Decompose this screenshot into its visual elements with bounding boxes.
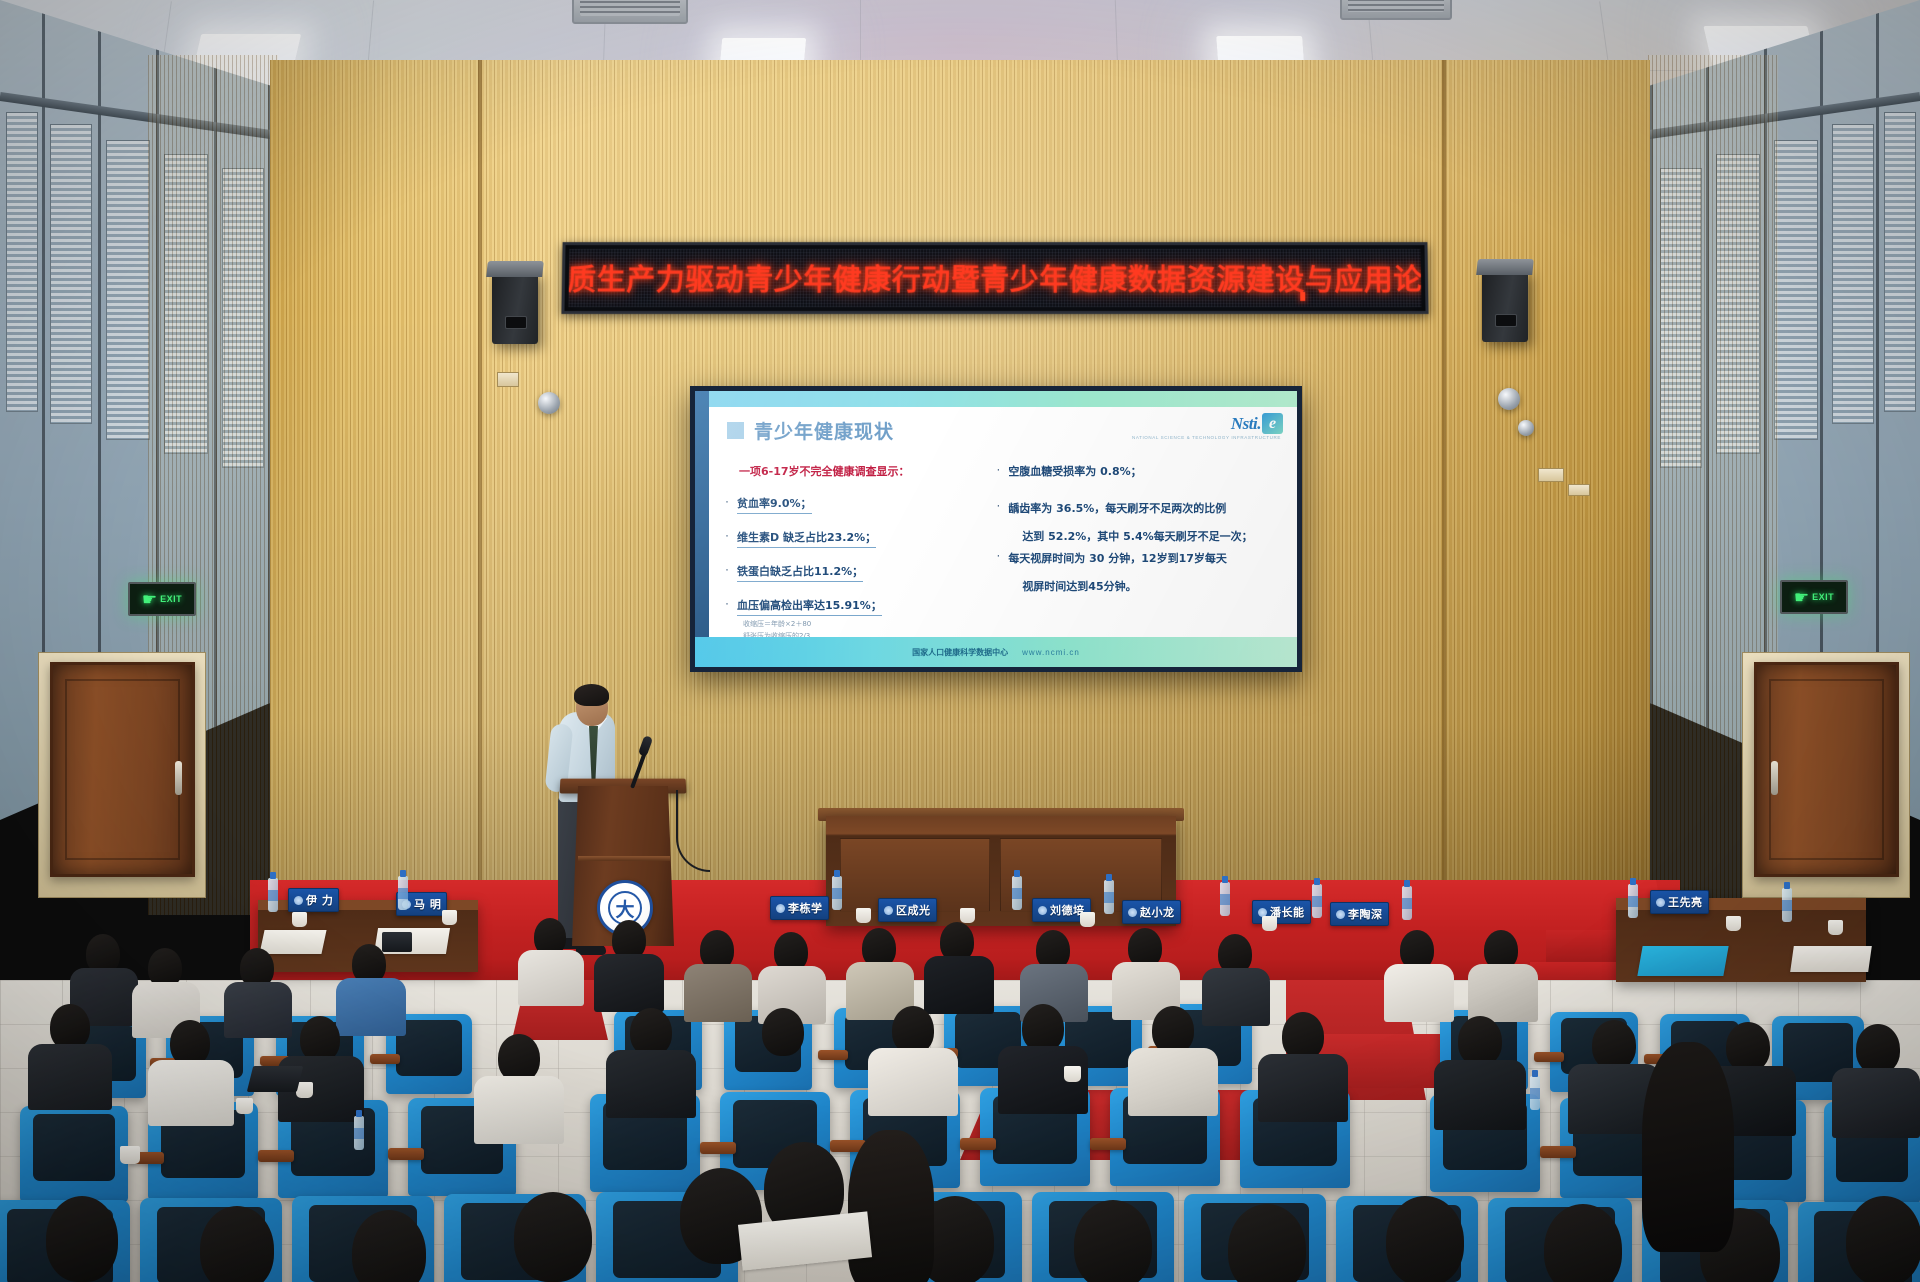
nameplate: 潘长能 xyxy=(1252,900,1311,924)
exit-sign-label: EXIT xyxy=(160,594,182,604)
nameplate: 赵小龙 xyxy=(1122,900,1181,924)
audience-person-body xyxy=(594,954,664,1012)
seat-armrest xyxy=(258,1150,294,1162)
audience-person-body xyxy=(1832,1068,1920,1138)
audience-seat[interactable] xyxy=(20,1106,128,1202)
nameplate-text: 马 明 xyxy=(414,896,441,912)
slide-footer-url: www.ncmi.cn xyxy=(1022,648,1080,657)
audience-person-head xyxy=(1074,1200,1152,1282)
seat-armrest xyxy=(388,1148,424,1160)
audience-person-body xyxy=(684,964,752,1022)
running-man-icon: ☛ xyxy=(142,591,157,608)
audience-person-head xyxy=(1022,1004,1064,1052)
podium-trim xyxy=(578,856,670,861)
slide-bullet: · 贫血率9.0%； xyxy=(725,495,986,514)
slide-bullet: · 龋齿率为 36.5%，每天刷牙不足两次的比例 达到 52.2%，其中 5.4… xyxy=(996,499,1281,545)
audience-person-head xyxy=(514,1192,592,1282)
water-bottle xyxy=(1782,888,1792,922)
seat-armrest xyxy=(960,1138,996,1150)
audience-person-head xyxy=(848,1130,934,1282)
led-banner-text: 新质生产力驱动青少年健康行动暨青少年健康数据资源建设与应用论坛 xyxy=(569,257,1422,299)
exit-sign-label: EXIT xyxy=(1812,592,1834,602)
audience-person-head xyxy=(200,1206,274,1282)
audience-person-head xyxy=(1386,1196,1464,1282)
audience-person-body xyxy=(518,950,584,1006)
bullet-text-wrap: 视屏时间达到45分钟。 xyxy=(1022,578,1227,595)
audience-person-head xyxy=(1458,1016,1502,1066)
bullet-dot-icon: · xyxy=(725,563,729,576)
slide-title-row: 青少年健康现状 xyxy=(727,417,894,444)
bullet-dot-icon: · xyxy=(996,549,1000,562)
air-conditioner-vent xyxy=(572,0,688,24)
paper-cup xyxy=(1828,920,1843,935)
led-banner-screen: 新质生产力驱动青少年健康行动暨青少年健康数据资源建设与应用论坛 xyxy=(569,249,1422,307)
bullet-text: 龋齿率为 36.5%，每天刷牙不足两次的比例 xyxy=(1008,502,1226,515)
water-bottle xyxy=(1312,884,1322,918)
paper-cup xyxy=(1064,1066,1081,1082)
nameplate-seal-icon xyxy=(776,904,785,913)
water-bottle xyxy=(398,876,408,910)
bullet-dot-icon: · xyxy=(996,499,1000,512)
nameplate-text: 王先亮 xyxy=(1668,894,1703,910)
wall-mounted-sensor xyxy=(538,392,560,414)
wall-speaker-left xyxy=(492,272,538,344)
audience-person-body xyxy=(28,1044,112,1110)
paper-cup xyxy=(442,910,457,925)
window-blind xyxy=(50,124,92,424)
paper-cup xyxy=(1726,916,1741,931)
seat-armrest xyxy=(1090,1138,1126,1150)
nameplate-text: 伊 力 xyxy=(306,892,333,908)
slide-body: 一项6-17岁不完全健康调查显示： · 贫血率9.0%； · 维生素D 缺乏占比… xyxy=(725,457,1281,635)
document-sheet xyxy=(259,930,326,954)
exit-sign-right: ☛ EXIT xyxy=(1780,580,1848,614)
slide-title-marker-icon xyxy=(727,422,744,439)
nsti-logo-word: Nsti. xyxy=(1231,414,1261,434)
nameplate-seal-icon xyxy=(294,896,303,905)
audience-person-body xyxy=(1128,1048,1218,1116)
conference-hall-photo: 新质生产力驱动青少年健康行动暨青少年健康数据资源建设与应用论坛 青少年健康现状 … xyxy=(0,0,1920,1282)
nameplate-text: 李陶深 xyxy=(1348,906,1383,922)
led-banner: 新质生产力驱动青少年健康行动暨青少年健康数据资源建设与应用论坛 xyxy=(561,242,1428,314)
bullet-text: 血压偏高检出率达15.91%； xyxy=(737,597,882,616)
slide-left-column: 一项6-17岁不完全健康调查显示： · 贫血率9.0%； · 维生素D 缺乏占比… xyxy=(725,457,986,635)
bullet-text: 贫血率9.0%； xyxy=(737,495,812,514)
audience-person-body xyxy=(868,1048,958,1116)
paper-cup xyxy=(292,912,307,927)
slide-right-column: · 空腹血糖受损率为 0.8%； · 龋齿率为 36.5%，每天刷牙不足两次的比… xyxy=(996,457,1281,635)
nameplate-seal-icon xyxy=(884,906,893,915)
water-bottle xyxy=(1104,880,1114,914)
nameplate-seal-icon xyxy=(1128,908,1137,917)
audience-person-head xyxy=(1152,1006,1194,1054)
water-bottle xyxy=(832,876,842,910)
audience-person-body xyxy=(224,982,292,1038)
bullet-dot-icon: · xyxy=(996,463,1000,476)
audience-person-head xyxy=(762,1008,804,1056)
window-blind xyxy=(1832,124,1874,424)
document-sheet xyxy=(1790,946,1872,972)
slide-footer-org: 国家人口健康科学数据中心 xyxy=(912,647,1008,658)
wall-seam xyxy=(478,60,482,910)
slide-lead-text: 一项6-17岁不完全健康调查显示： xyxy=(739,463,986,479)
water-bottle xyxy=(1012,876,1022,910)
slide-left-accent-band xyxy=(695,391,709,667)
speaker-hair xyxy=(574,684,609,706)
seat-armrest xyxy=(1534,1052,1564,1062)
wall-speaker-right xyxy=(1482,270,1528,342)
seat-armrest xyxy=(1540,1146,1576,1158)
slide-subnote: 收缩压＝年龄×2＋80 xyxy=(743,619,986,630)
audience-person-body xyxy=(924,956,994,1014)
bullet-dot-icon: · xyxy=(725,597,729,610)
slide-bullet: · 空腹血糖受损率为 0.8%； xyxy=(996,463,1281,480)
audience-person-head xyxy=(1856,1024,1900,1074)
air-conditioner-vent xyxy=(1340,0,1452,20)
audience-person-body xyxy=(1384,964,1454,1022)
wall-mounted-sensor xyxy=(1498,388,1520,410)
audience-person-head xyxy=(1726,1022,1770,1072)
window-blind xyxy=(6,112,38,412)
water-bottle xyxy=(268,878,278,912)
audience-person-body xyxy=(606,1050,696,1118)
ceiling-speaker-dome xyxy=(1518,420,1534,436)
bullet-text: 维生素D 缺乏占比23.2%； xyxy=(737,529,876,548)
audience-person-head xyxy=(1282,1012,1324,1060)
nameplate-seal-icon xyxy=(1336,910,1345,919)
audience-person-body xyxy=(1468,964,1538,1022)
paper-cup xyxy=(236,1098,253,1114)
presentation-slide: 青少年健康现状 Nsti. e NATIONAL SCIENCE & TECHN… xyxy=(695,391,1297,667)
audience-person-head xyxy=(1846,1196,1920,1282)
window-blind xyxy=(1774,140,1818,440)
audience-person-head xyxy=(630,1008,672,1056)
tablet-device xyxy=(382,932,412,952)
slide-bullet: · 铁蛋白缺乏占比11.2%； xyxy=(725,563,986,582)
nameplate-seal-icon xyxy=(1656,898,1665,907)
nameplate: 区成光 xyxy=(878,898,937,922)
bullet-dot-icon: · xyxy=(725,529,729,542)
door-left xyxy=(50,662,195,877)
bullet-text-wrap: 达到 52.2%，其中 5.4%每天刷牙不足一次； xyxy=(1022,528,1252,545)
paper-cup xyxy=(1080,912,1095,927)
folder-blue xyxy=(1637,946,1728,976)
paper-cup xyxy=(856,908,871,923)
window-blind xyxy=(1884,112,1916,412)
nameplate-text: 赵小龙 xyxy=(1140,904,1175,920)
audience-person-body xyxy=(738,1050,828,1118)
nameplate-text: 区成光 xyxy=(896,902,931,918)
bullet-dot-icon: · xyxy=(725,495,729,508)
door-handle-icon xyxy=(175,761,182,795)
nameplate: 王先亮 xyxy=(1650,890,1709,914)
water-bottle xyxy=(354,1116,364,1150)
slide-bullet: · 每天视屏时间为 30 分钟，12岁到17岁每天 视屏时间达到45分钟。 xyxy=(996,549,1281,595)
water-bottle xyxy=(1628,884,1638,918)
audience-person-head xyxy=(1592,1020,1636,1070)
slide-bullet: · 血压偏高检出率达15.91%； xyxy=(725,597,986,616)
audience-person-body xyxy=(1434,1060,1526,1130)
audience-person-body xyxy=(148,1060,234,1126)
wall-panel-box xyxy=(1538,468,1564,482)
audience-person-body xyxy=(1202,968,1270,1026)
audience-person-head xyxy=(46,1196,118,1282)
audience-person-head xyxy=(1642,1042,1734,1252)
seat-armrest xyxy=(370,1054,400,1064)
audience-person-body xyxy=(474,1076,564,1144)
paper-cup xyxy=(120,1146,140,1164)
running-man-icon: ☛ xyxy=(1794,589,1809,606)
nsti-logo-badge-icon: e xyxy=(1262,413,1283,434)
wall-seam xyxy=(1442,60,1446,910)
bullet-text: 铁蛋白缺乏占比11.2%； xyxy=(737,563,863,582)
led-stuck-pixel xyxy=(1300,292,1305,301)
bullet-text: 空腹血糖受损率为 0.8%； xyxy=(1008,463,1141,480)
slide-title: 青少年健康现状 xyxy=(754,417,894,444)
slide-top-gradient-band xyxy=(695,391,1297,407)
window-blind xyxy=(106,140,150,440)
nameplate-seal-icon xyxy=(1038,906,1047,915)
audience-person-head xyxy=(892,1006,934,1054)
door-handle-icon xyxy=(1771,761,1778,795)
audience-person-body xyxy=(1258,1054,1348,1122)
nameplate-text: 李栋学 xyxy=(788,900,823,916)
audience-person-body xyxy=(336,978,406,1036)
water-bottle xyxy=(1402,886,1412,920)
slide-footer: 国家人口健康科学数据中心 www.ncmi.cn xyxy=(695,637,1297,667)
bullet-text: 每天视屏时间为 30 分钟，12岁到17岁每天 xyxy=(1008,552,1227,565)
paper-cup xyxy=(960,908,975,923)
nsti-logo-subtitle: NATIONAL SCIENCE & TECHNOLOGY INFRASTRUC… xyxy=(1132,435,1281,440)
laptop-device xyxy=(247,1066,303,1092)
door-right xyxy=(1754,662,1899,877)
audience-person-head xyxy=(498,1034,540,1082)
nameplate: 李栋学 xyxy=(770,896,829,920)
paper-cup xyxy=(1262,916,1277,931)
seat-armrest xyxy=(700,1142,736,1154)
nameplate: 伊 力 xyxy=(288,888,339,912)
nameplate: 李陶深 xyxy=(1330,902,1389,926)
wall-panel-box xyxy=(497,372,519,387)
water-bottle xyxy=(1530,1076,1540,1110)
projection-screen: 青少年健康现状 Nsti. e NATIONAL SCIENCE & TECHN… xyxy=(690,386,1302,672)
nsti-logo: Nsti. e xyxy=(1231,413,1283,434)
water-bottle xyxy=(1220,882,1230,916)
wall-panel-box xyxy=(1568,484,1590,496)
exit-sign-left: ☛ EXIT xyxy=(128,582,196,616)
slide-bullet: · 维生素D 缺乏占比23.2%； xyxy=(725,529,986,548)
